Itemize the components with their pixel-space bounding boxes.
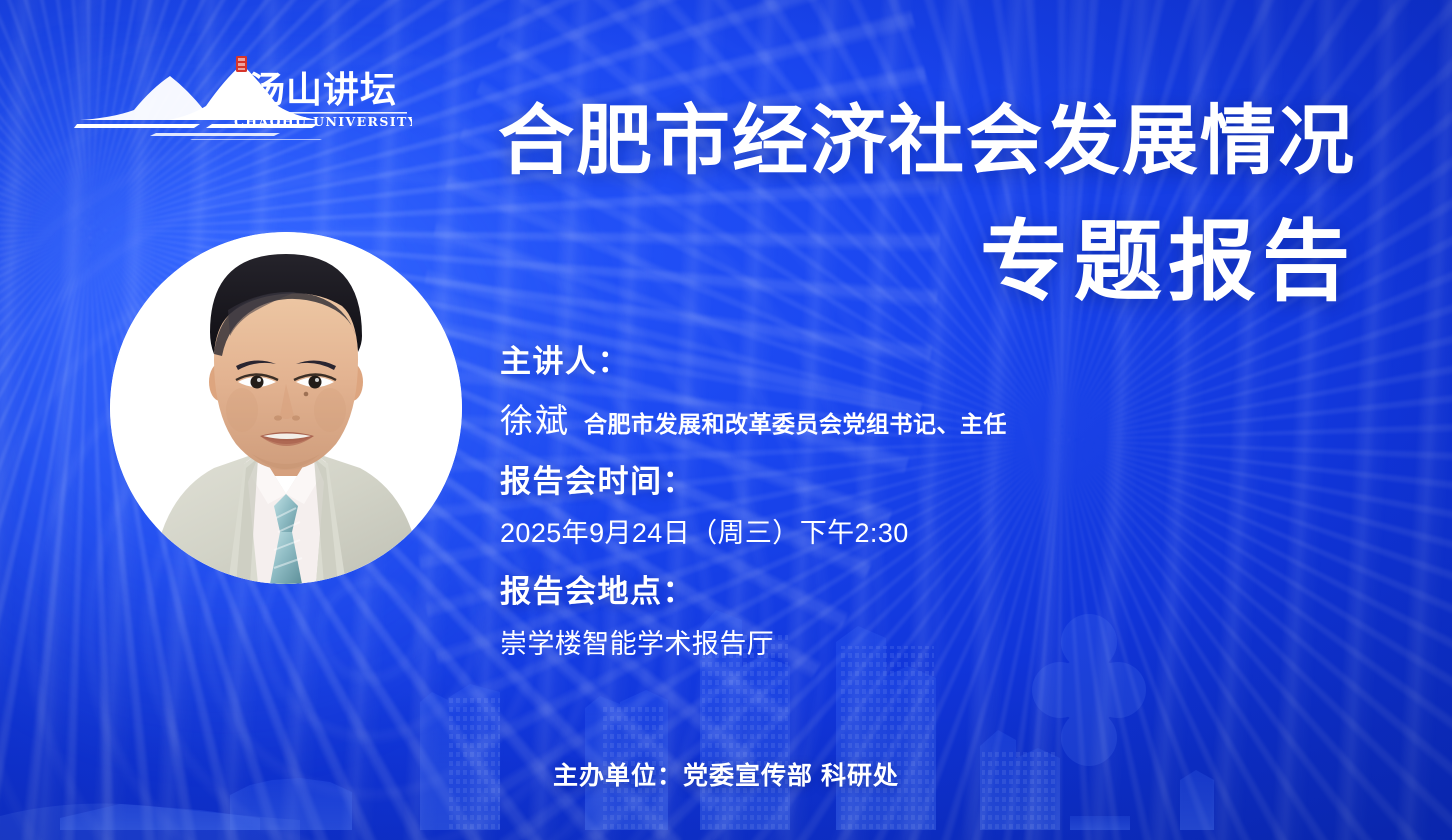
speaker-row: 徐斌 合肥市发展和改革委员会党组书记、主任 [500,394,1260,442]
headline-block: 合肥市经济社会发展情况 专题报告 [416,104,1356,306]
time-label: 报告会时间： [500,462,1260,502]
speaker-label: 主讲人： [500,342,1260,382]
portrait-illustration [110,232,462,584]
organizer-line: 主办单位：党委宣传部 科研处 [0,756,1452,792]
logo-title: 汤山讲坛 [249,69,397,111]
place-value: 崇学楼智能学术报告厅 [500,622,1260,661]
speaker-name: 徐斌 [500,394,570,442]
poster-canvas: 汤山讲坛 CHAOHU UNIVERSITY 合肥市经济社会发展情况 专题报告 [0,0,1452,840]
headline-line-2: 专题报告 [416,218,1356,306]
speaker-portrait [110,232,462,584]
logo-subtitle: CHAOHU UNIVERSITY [234,114,412,129]
speaker-title: 合肥市发展和改革委员会党组书记、主任 [584,405,1007,439]
time-value: 2025年9月24日（周三）下午2:30 [500,511,1260,550]
place-label: 报告会地点： [500,572,1260,612]
headline-line-1: 合肥市经济社会发展情况 [416,104,1356,180]
details-block: 主讲人： 徐斌 合肥市发展和改革委员会党组书记、主任 报告会时间： 2025年9… [500,342,1260,661]
seal-icon [236,56,247,72]
brand-logo: 汤山讲坛 CHAOHU UNIVERSITY [72,52,412,140]
